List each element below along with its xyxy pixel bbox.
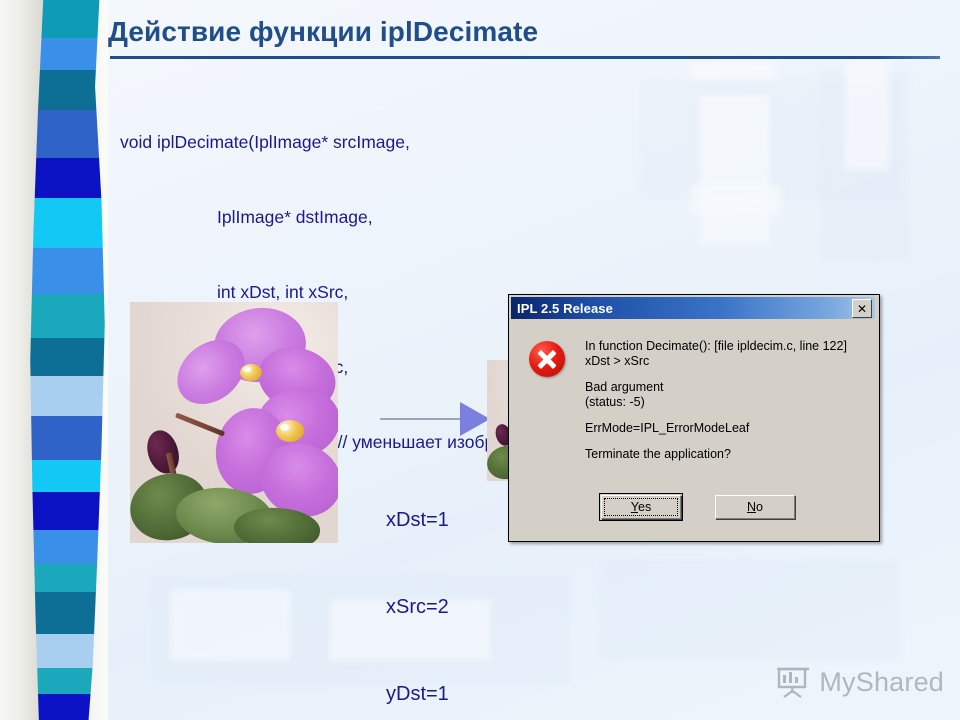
dialog-message: In function Decimate(): [file ipldecim.c… — [585, 339, 863, 462]
slide-canvas: Действие функции iplDecimate void iplDec… — [0, 0, 960, 720]
code-line-2: IplImage* dstImage, — [120, 205, 555, 230]
message-line-3: ErrMode=IPL_ErrorModeLeaf — [585, 421, 863, 436]
dialog-body: In function Decimate(): [file ipldecim.c… — [511, 321, 877, 539]
title-underline — [110, 56, 940, 59]
no-button[interactable]: No — [715, 495, 795, 519]
focus-ring — [604, 498, 678, 516]
close-icon[interactable]: ✕ — [852, 299, 872, 318]
dialog-title-bar[interactable]: IPL 2.5 Release ✕ — [511, 297, 875, 319]
error-icon — [529, 341, 565, 377]
no-button-label: No — [747, 500, 763, 514]
code-line-1: void iplDecimate(IplImage* srcImage, — [120, 130, 555, 155]
message-line-1: In function Decimate(): [file ipldecim.c… — [585, 339, 863, 369]
message-line-4: Terminate the application? — [585, 447, 863, 462]
param-xdst: xDst=1 — [386, 506, 449, 535]
page-title: Действие функции iplDecimate — [108, 16, 928, 48]
yes-button[interactable]: Yes — [601, 495, 681, 519]
message-line-2: Bad argument (status: -5) — [585, 380, 863, 410]
dialog-title: IPL 2.5 Release — [511, 301, 613, 316]
transform-arrow-line — [380, 418, 464, 420]
param-xsrc: xSrc=2 — [386, 593, 449, 622]
param-ydst: yDst=1 — [386, 680, 449, 709]
transform-arrow-head — [460, 402, 490, 436]
myshared-watermark: MyShared — [776, 666, 944, 698]
presentation-board-icon — [776, 666, 810, 698]
source-photo — [130, 302, 338, 543]
error-dialog: IPL 2.5 Release ✕ In function Decimate()… — [508, 294, 880, 542]
watermark-text: MyShared — [819, 667, 944, 698]
decorative-ribbon — [0, 0, 108, 720]
parameter-values: xDst=1 xSrc=2 yDst=1 ySrc=2 — [386, 448, 449, 720]
